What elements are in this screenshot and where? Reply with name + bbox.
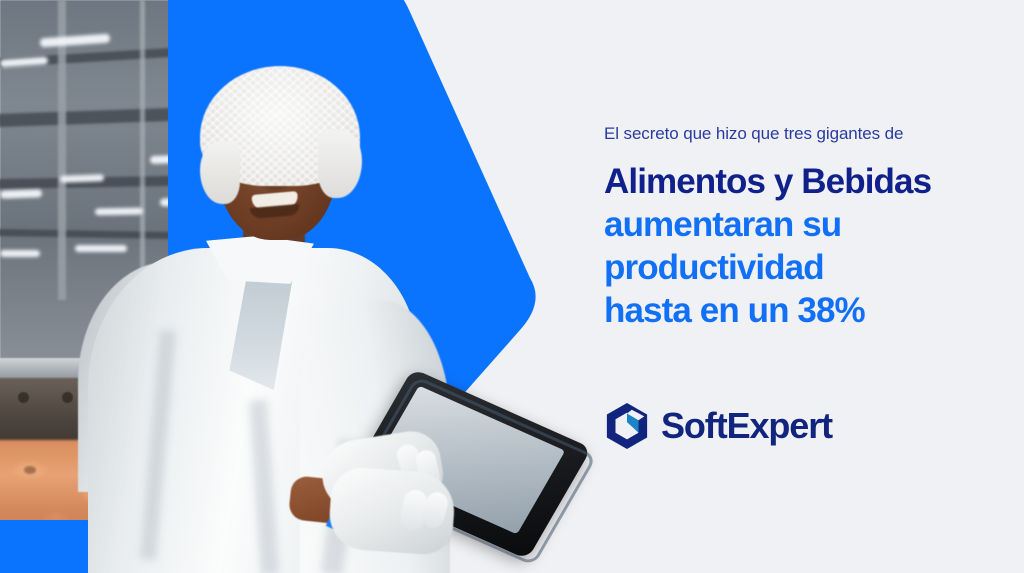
headline: Alimentos y Bebidas aumentaran su produc… xyxy=(604,160,1024,332)
worker-figure xyxy=(0,0,600,573)
headline-line-1: Alimentos y Bebidas xyxy=(604,160,1024,203)
softexpert-logo: SoftExpert xyxy=(604,402,832,450)
headline-line-4: hasta en un 38% xyxy=(604,289,1024,332)
hairnet-edge xyxy=(200,142,240,204)
hairnet-edge xyxy=(318,130,362,198)
headline-line-2: aumentaran su xyxy=(604,203,1024,246)
eyebrow-text: El secreto que hizo que tres gigantes de xyxy=(604,124,903,144)
softexpert-wordmark: SoftExpert xyxy=(661,408,832,444)
softexpert-hexagon-icon xyxy=(604,402,650,450)
text-panel: El secreto que hizo que tres gigantes de… xyxy=(604,0,1024,573)
headline-line-3: productividad xyxy=(604,246,1024,289)
promotional-banner: El secreto que hizo que tres gigantes de… xyxy=(0,0,1024,573)
hero-photo xyxy=(0,0,600,573)
